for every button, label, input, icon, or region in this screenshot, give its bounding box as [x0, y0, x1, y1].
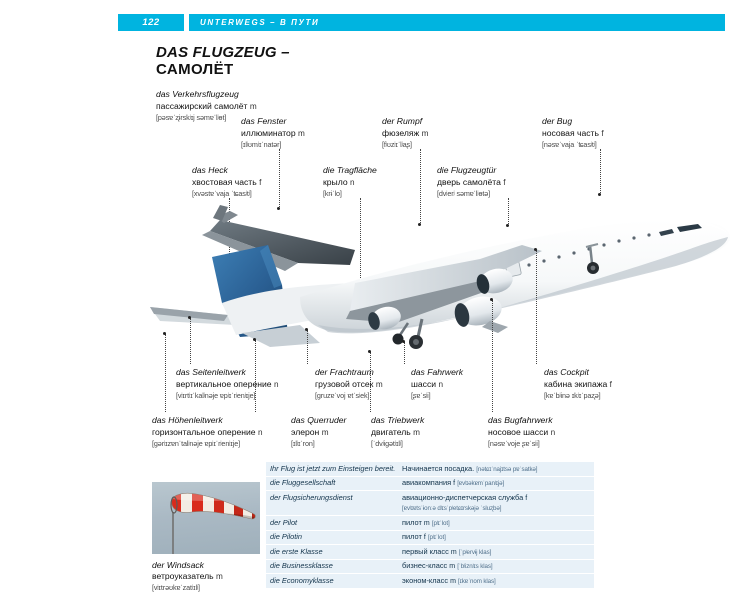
table-cell-ru: авиационно-диспетчерская служба f [ɐvʲɪɐ… [402, 493, 590, 514]
table-row: der Pilot пилот m [pʲɪˈlot] [266, 516, 594, 531]
entry-ru: вертикальное оперение n [176, 379, 279, 391]
entry-fahrwerk: das Fahrwerk шасси n [ʂɐˈsʲi] [411, 367, 463, 402]
entry-seitenleitwerk: das Seitenleitwerk вертикальное оперение… [176, 367, 279, 402]
entry-de: das Fahrwerk [411, 367, 463, 379]
entry-ru: грузовой отсек m [315, 379, 383, 391]
table-cell-ipa: [pʲɪˈlot] [432, 520, 450, 527]
entry-ipa: [ʂɐˈsʲi] [411, 390, 463, 402]
table-cell-ipa: [nətɕɪˈnajɪtsə pɐˈsatkə] [476, 466, 537, 473]
leader-line-hoehenleitwerk [165, 334, 166, 412]
leader-line-cockpit [536, 250, 537, 364]
table-row: die Businessklasse бизнес-класс m [ˈbʲiz… [266, 560, 594, 575]
table-cell-ru: авиакомпания f [ɐvʲɪəkɐmˈpanʲɪjə] [402, 478, 590, 489]
table-cell-de: die Fluggesellschaft [270, 478, 402, 488]
entry-ipa: [fʲʊzʲɪˈlʲaʂ] [382, 139, 429, 151]
page-number: 122 [118, 14, 184, 31]
entry-bug: der Bug носовая часть f [nəsɐˈvaja ˈʨasʲ… [542, 116, 604, 151]
entry-ipa: [nəsɐˈvoje ʂɐˈsʲi] [488, 438, 555, 450]
entry-ru: шасси n [411, 379, 463, 391]
entry-ru: пассажирский самолёт m [156, 101, 257, 113]
table-cell-ru: эконом-класс m [ɪkɐˈnom klas] [402, 576, 590, 587]
table-cell-gender: f [453, 480, 455, 487]
table-cell-ru: первый класс m [ˈpʲervɨj klas] [402, 547, 590, 558]
entry-de: das Verkehrsflugzeug [156, 89, 257, 101]
entry-ipa: [ɡruzɐˈvoj ɐtˈsʲek] [315, 390, 383, 402]
entry-de: der Bug [542, 116, 604, 128]
windsock-caption: der Windsack ветроуказатель m [vʲɪtrəʊkɐ… [152, 560, 272, 593]
entry-ipa: [ˈdvʲiɡətʲɪlʲ] [371, 438, 424, 450]
table-row: der Flugsicherungsdienst авиационно-дисп… [266, 491, 594, 516]
table-cell-de: die Businessklasse [270, 561, 402, 571]
entry-bugfahrwerk: das Bugfahrwerk носовое шасси n [nəsɐˈvo… [488, 415, 555, 450]
table-cell-ipa: [pʲɪˈlot] [428, 534, 446, 541]
entry-ipa: [ɡərʲɪzɐnˈtalʲnəje ɐpʲɪˈrʲenʲɪje] [152, 438, 263, 450]
entry-ipa: [kɐˈbʲinə ɪkʲɪˈpaʐə] [544, 390, 612, 402]
windsock-illustration [168, 492, 260, 526]
entry-ipa: [ɪlʲʊmʲɪˈnatər] [241, 139, 305, 151]
entry-de: der Frachtraum [315, 367, 383, 379]
table-cell-de: der Flugsicherungsdienst [270, 493, 402, 503]
entry-ru: двигатель m [371, 427, 424, 439]
table-cell-ipa: [ˈpʲervɨj klas] [459, 549, 492, 556]
entry-ru: горизонтальное оперение n [152, 427, 263, 439]
entry-de: der Windsack [152, 560, 272, 571]
table-cell-ru: Начинается посадка. [nətɕɪˈnajɪtsə pɐˈsa… [402, 464, 590, 475]
entry-ipa: [vʲɪtrəʊkɐˈzatʲɪlʲ] [152, 582, 272, 593]
entry-ru: иллюминатор m [241, 128, 305, 140]
section-title: UNTERWEGS – В ПУТИ [189, 14, 725, 31]
phrase-table: Ihr Flug ist jetzt zum Einsteigen bereit… [266, 461, 594, 589]
leader-line-bugfahrwerk [492, 300, 493, 412]
entry-de: das Heck [192, 165, 261, 177]
table-cell-ipa: [ɪkɐˈnom klas] [458, 578, 496, 585]
table-cell-de: der Pilot [270, 518, 402, 528]
leader-dot-hoehenleitwerk [163, 332, 166, 335]
entry-ru: элерон m [291, 427, 346, 439]
leader-dot-frachtraum [305, 328, 308, 331]
table-cell-ru: пилот m [pʲɪˈlot] [402, 518, 590, 529]
table-cell-ru-text: авиакомпания [402, 478, 451, 487]
entry-fenster: das Fenster иллюминатор m [ɪlʲʊmʲɪˈnatər… [241, 116, 305, 151]
entry-de: das Triebwerk [371, 415, 424, 427]
table-row: die Fluggesellschaft авиакомпания f [ɐvʲ… [266, 477, 594, 492]
entry-cockpit: das Cockpit кабина экипажа f [kɐˈbʲinə ɪ… [544, 367, 612, 402]
table-cell-de: Ihr Flug ist jetzt zum Einsteigen bereit… [270, 464, 402, 474]
leader-line-frachtraum [307, 330, 308, 364]
entry-ipa: [nəsɐˈvaja ˈʨasʲtʲ] [542, 139, 604, 151]
table-cell-ru: пилот f [pʲɪˈlot] [402, 532, 590, 543]
airplane-illustration [150, 185, 730, 365]
leader-dot-fahrwerk [402, 340, 405, 343]
table-row: die Pilotin пилот f [pʲɪˈlot] [266, 531, 594, 546]
entry-de: die Flugzeugtür [437, 165, 506, 177]
entry-de: das Seitenleitwerk [176, 367, 279, 379]
page-title-ru: САМОЛЁТ [156, 61, 576, 78]
leader-dot-cockpit [534, 248, 537, 251]
entry-de: das Fenster [241, 116, 305, 128]
page-header: 122 UNTERWEGS – В ПУТИ [118, 14, 725, 31]
table-cell-ru-text: пилот [402, 518, 422, 527]
entry-de: die Tragfläche [323, 165, 377, 177]
table-cell-ru-text: Начинается посадка. [402, 464, 474, 473]
table-cell-ipa: [ˈbʲiznʲɪs klas] [457, 563, 492, 570]
table-row: die erste Klasse первый класс m [ˈpʲervɨ… [266, 545, 594, 560]
table-cell-gender: m [451, 549, 457, 556]
entry-de: der Rumpf [382, 116, 429, 128]
table-cell-ru-text: пилот [402, 532, 422, 541]
entry-de: das Höhenleitwerk [152, 415, 263, 427]
entry-hoehenleitwerk: das Höhenleitwerk горизонтальное оперени… [152, 415, 263, 450]
table-cell-ru-text: авиационно-диспетчерская служба [402, 493, 523, 502]
entry-rumpf: der Rumpf фюзеляж m [fʲʊzʲɪˈlʲaʂ] [382, 116, 429, 151]
table-cell-gender: m [449, 563, 455, 570]
windsock-photo [152, 482, 260, 554]
page-title-de: DAS FLUGZEUG – [156, 44, 576, 61]
leader-dot-seitenleitwerk [188, 316, 191, 319]
table-cell-gender: m [424, 520, 430, 527]
page-title: DAS FLUGZEUG – САМОЛЁТ [156, 44, 576, 78]
leader-line-fahrwerk [404, 342, 405, 364]
entry-de: das Bugfahrwerk [488, 415, 555, 427]
entry-de: das Cockpit [544, 367, 612, 379]
table-row: die Economyklasse эконом-класс m [ɪkɐˈno… [266, 574, 594, 589]
table-cell-ru-text: бизнес-класс [402, 561, 447, 570]
entry-ipa: [ɪlʲɪˈron] [291, 438, 346, 450]
table-cell-gender: f [525, 495, 527, 502]
table-cell-gender: f [424, 534, 426, 541]
airplane-photo [150, 185, 730, 365]
entry-triebwerk: das Triebwerk двигатель m [ˈdvʲiɡətʲɪlʲ] [371, 415, 424, 450]
leader-dot-querruder [253, 338, 256, 341]
table-cell-ru-text: первый класс [402, 547, 449, 556]
table-cell-ipa: [ɐvʲɪɐtsˈɨonːə dʲɪsˈpʲetɕɪrskəjə ˈsluʐbə… [402, 505, 501, 512]
entry-ru: носовая часть f [542, 128, 604, 140]
table-cell-de: die erste Klasse [270, 547, 402, 557]
table-cell-ru: бизнес-класс m [ˈbʲiznʲɪs klas] [402, 561, 590, 572]
table-cell-de: die Economyklasse [270, 576, 402, 586]
entry-ru: фюзеляж m [382, 128, 429, 140]
entry-frachtraum: der Frachtraum грузовой отсек m [ɡruzɐˈv… [315, 367, 383, 402]
entry-ru: ветроуказатель m [152, 571, 272, 582]
table-cell-de: die Pilotin [270, 532, 402, 542]
leader-dot-triebwerk [368, 350, 371, 353]
entry-de: das Querruder [291, 415, 346, 427]
entry-ipa: [vʲɪrtʲɪˈkalʲnəje ɐpʲɪˈrʲenʲɪje] [176, 390, 279, 402]
table-cell-ru-text: эконом-класс [402, 576, 448, 585]
table-cell-gender: m [450, 578, 456, 585]
entry-querruder: das Querruder элерон m [ɪlʲɪˈron] [291, 415, 346, 450]
table-row: Ihr Flug ist jetzt zum Einsteigen bereit… [266, 462, 594, 477]
entry-ru: носовое шасси n [488, 427, 555, 439]
leader-line-seitenleitwerk [190, 318, 191, 364]
table-cell-ipa: [ɐvʲɪəkɐmˈpanʲɪjə] [457, 480, 504, 487]
entry-ru: кабина экипажа f [544, 379, 612, 391]
leader-dot-bugfahrwerk [490, 298, 493, 301]
